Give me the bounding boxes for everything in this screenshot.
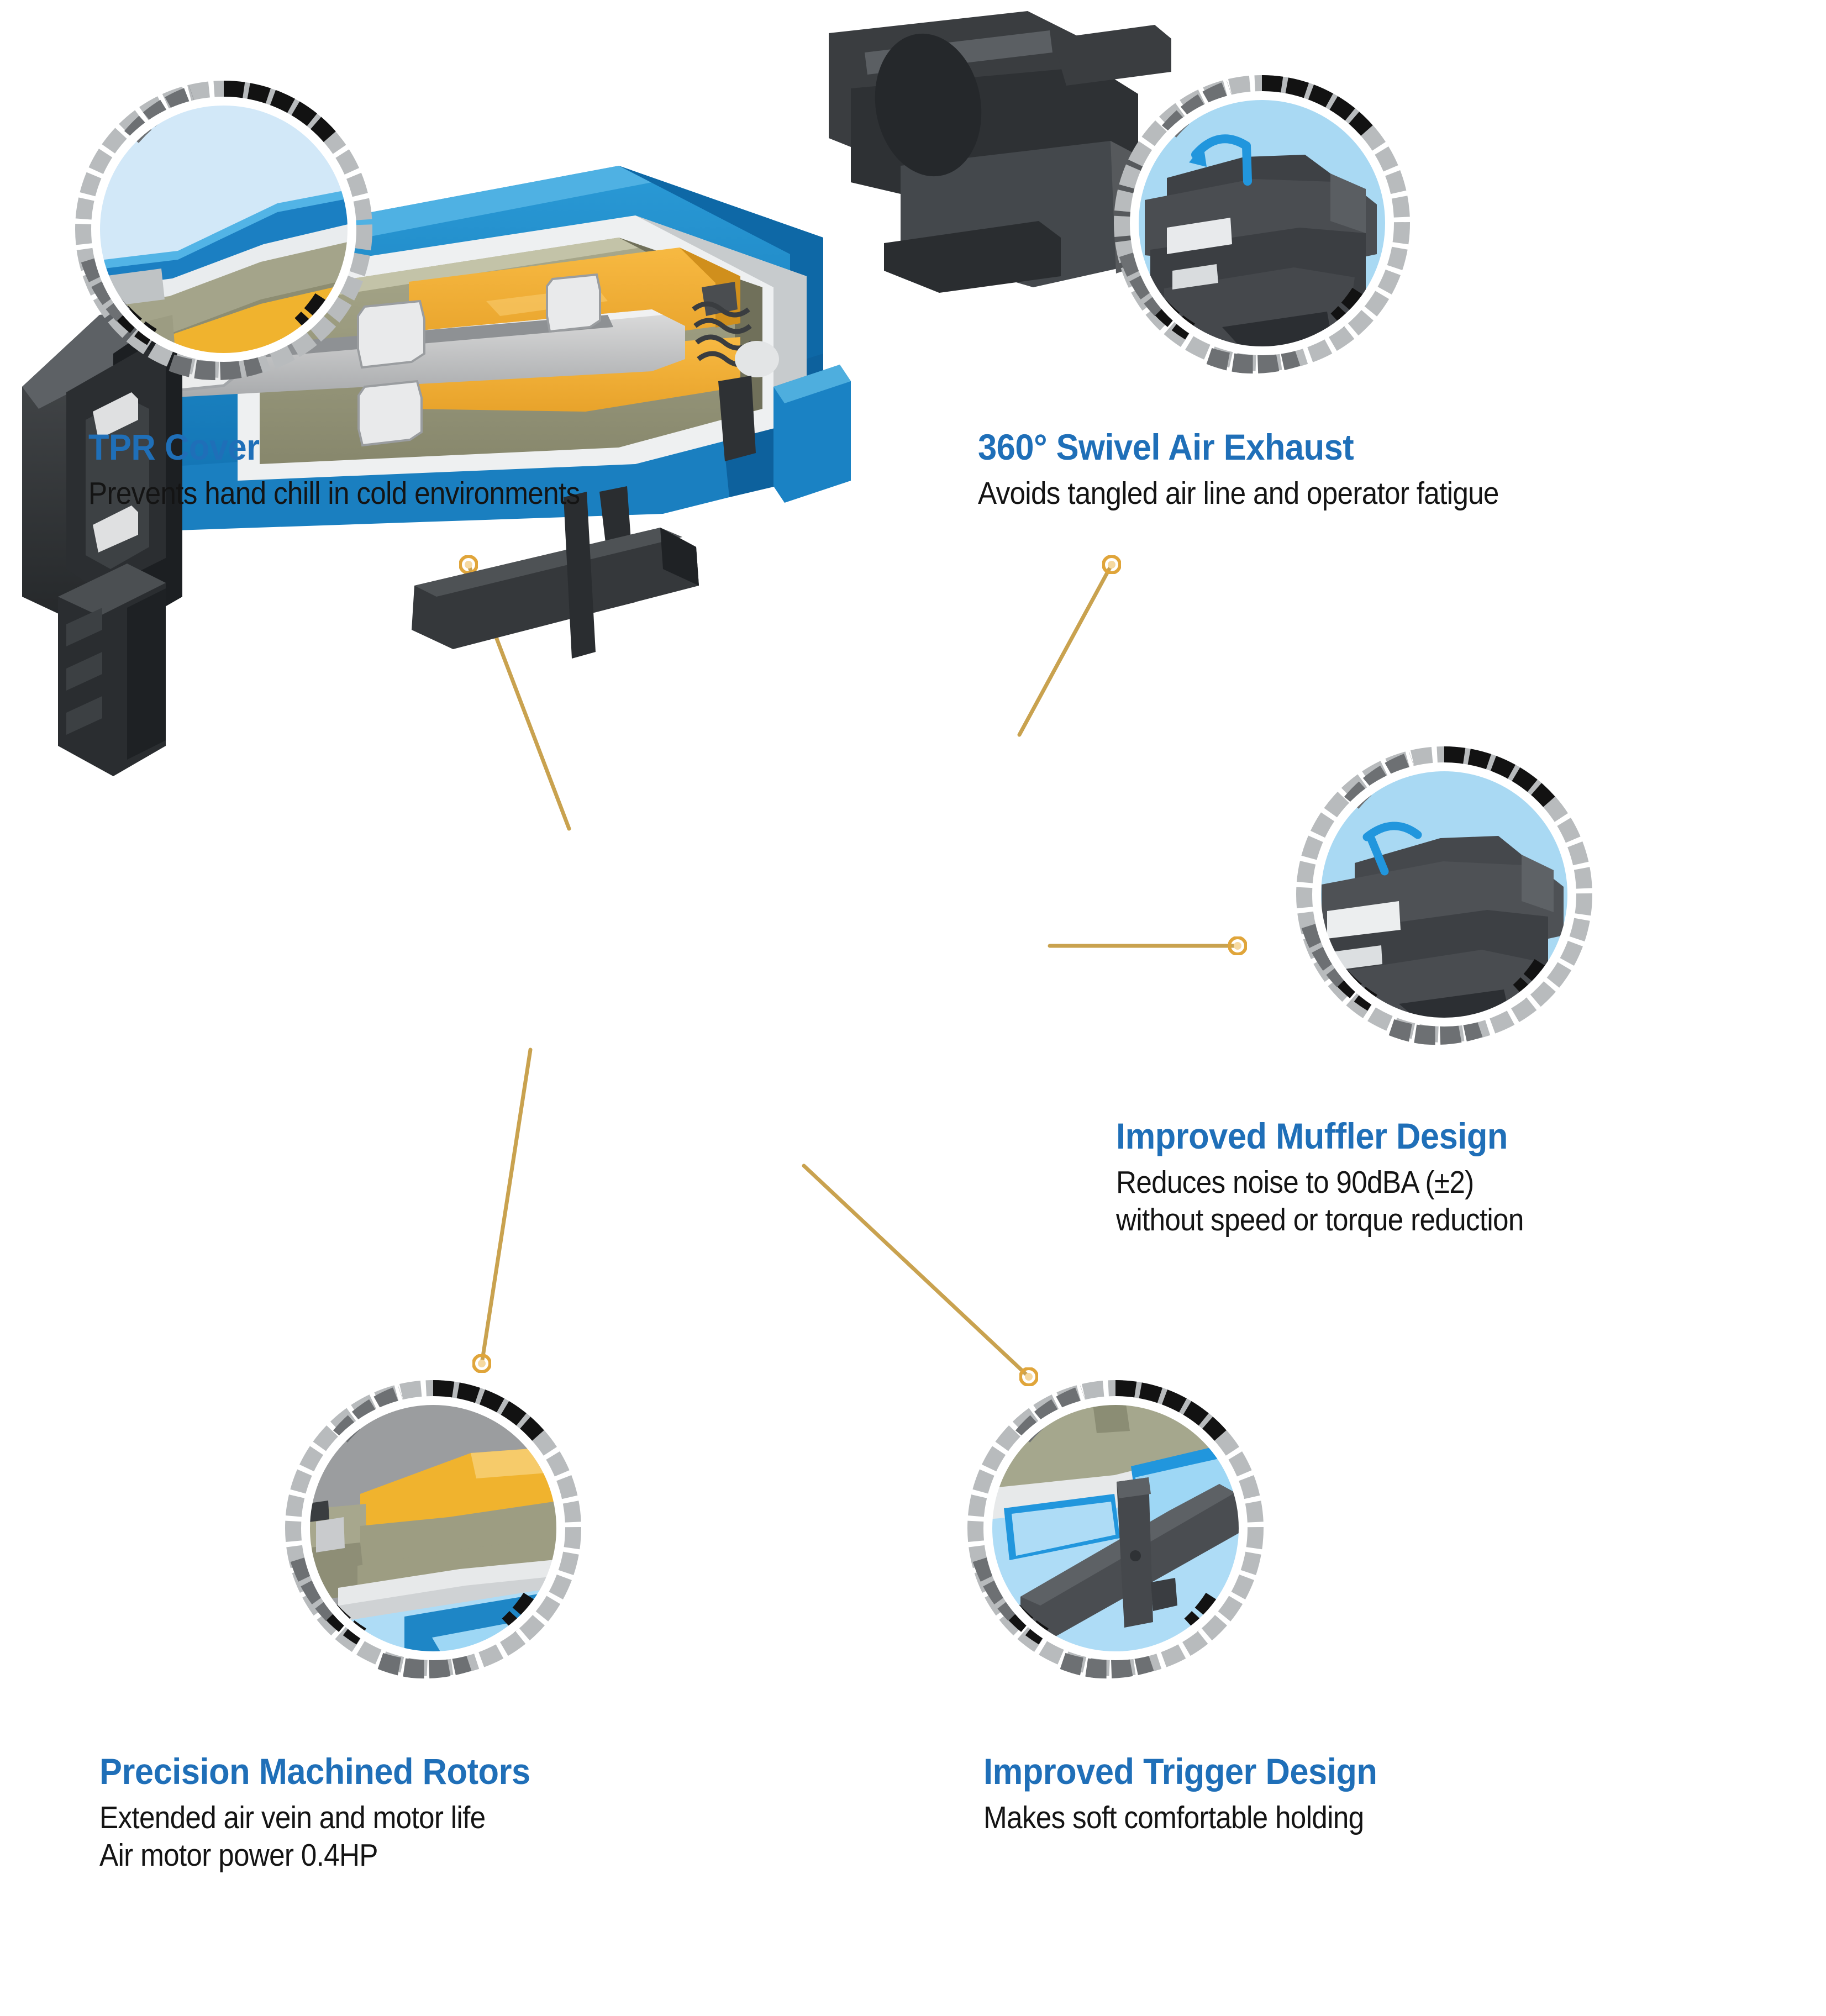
callout-badge-tpr-cover[interactable] <box>72 77 376 381</box>
callout-title-tpr-cover: TPR Cover <box>88 428 596 467</box>
connector-dot-rotors <box>472 1354 491 1373</box>
callout-desc-rotors: Extended air vein and motor life Air mot… <box>99 1799 517 1875</box>
square-drive-anvil <box>58 564 166 776</box>
callout-text-trigger: Improved Trigger Design Makes soft comfo… <box>983 1752 1407 1836</box>
badge-dashed-ring <box>1111 72 1413 375</box>
leader-line-rotors <box>482 1050 530 1364</box>
callout-desc-muffler: Reduces noise to 90dBA (±2) without spee… <box>1116 1164 1524 1239</box>
badge-dashed-ring <box>282 1377 585 1680</box>
connector-dot-muffler <box>1228 936 1247 955</box>
callout-badge-trigger[interactable] <box>964 1377 1267 1680</box>
callout-text-muffler: Improved Muffler Design Reduces noise to… <box>1116 1117 1569 1239</box>
leader-line-trigger <box>804 1166 1029 1377</box>
infographic-canvas: TPR Cover Prevents hand chill in cold en… <box>0 0 1826 2016</box>
callout-title-swivel-exhaust: 360° Swivel Air Exhaust <box>978 428 1516 467</box>
callout-desc-swivel-exhaust: Avoids tangled air line and operator fat… <box>978 475 1499 512</box>
callout-text-tpr-cover: TPR Cover Prevents hand chill in cold en… <box>88 428 634 512</box>
rear-blue-cap <box>773 365 851 503</box>
callout-badge-swivel-exhaust[interactable] <box>1111 72 1413 375</box>
callout-badge-rotors[interactable] <box>282 1377 585 1680</box>
badge-dashed-ring <box>1293 743 1596 1046</box>
callout-badge-muffler[interactable] <box>1293 743 1596 1046</box>
callout-title-trigger: Improved Trigger Design <box>983 1752 1377 1791</box>
callout-title-rotors: Precision Machined Rotors <box>99 1752 530 1791</box>
callout-desc-tpr-cover: Prevents hand chill in cold environments <box>88 475 580 512</box>
badge-dashed-ring <box>72 77 376 381</box>
callout-text-swivel-exhaust: 360° Swivel Air Exhaust Avoids tangled a… <box>978 428 1557 512</box>
badge-dashed-ring <box>964 1377 1267 1680</box>
callout-desc-trigger: Makes soft comfortable holding <box>983 1799 1364 1836</box>
callout-title-muffler: Improved Muffler Design <box>1116 1117 1537 1156</box>
callout-text-rotors: Precision Machined Rotors Extended air v… <box>99 1752 562 1875</box>
